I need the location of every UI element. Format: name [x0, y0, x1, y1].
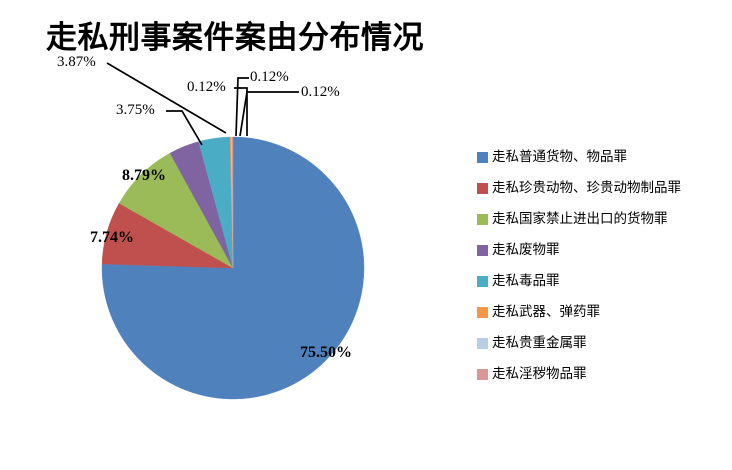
legend-item[interactable]: 走私武器、弹药罪 — [477, 297, 729, 328]
legend-item-label: 走私武器、弹药罪 — [492, 306, 600, 320]
callout-label-waste: 3.75% — [116, 103, 155, 118]
legend-color-swatch — [477, 307, 488, 318]
legend-color-swatch — [477, 152, 488, 163]
slice-label-rare-animals: 7.74% — [90, 230, 134, 246]
callout-label-precious-metals: 0.12% — [250, 70, 289, 85]
pie-chart-plot-area: 75.50% 7.74% 8.79% 3.87% 3.75% 0.12% 0.1… — [0, 0, 470, 470]
legend-item-label: 走私贵重金属罪 — [492, 337, 587, 351]
slice-label-ordinary-goods: 75.50% — [300, 345, 352, 361]
slice-label-prohibited-goods: 8.79% — [122, 168, 166, 184]
legend-item[interactable]: 走私贵重金属罪 — [477, 328, 729, 359]
legend-color-swatch — [477, 338, 488, 349]
leader-line-drugs — [107, 63, 226, 133]
legend-item[interactable]: 走私珍贵动物、珍贵动物制品罪 — [477, 173, 729, 204]
callout-label-obscene: 0.12% — [301, 85, 340, 100]
legend-item[interactable]: 走私毒品罪 — [477, 266, 729, 297]
legend-item-label: 走私普通货物、物品罪 — [492, 151, 627, 165]
legend-item-label: 走私国家禁止进出口的货物罪 — [492, 213, 668, 227]
legend-color-swatch — [477, 369, 488, 380]
legend-item-label: 走私淫秽物品罪 — [492, 368, 587, 382]
callout-label-drugs: 3.87% — [57, 55, 96, 70]
legend-item[interactable]: 走私普通货物、物品罪 — [477, 142, 729, 173]
legend-item-label: 走私毒品罪 — [492, 275, 560, 289]
chart-canvas: 走私刑事案件案由分布情况 75.50% 7.74% 8.79% 3.87% 3.… — [0, 0, 732, 470]
legend-item-label: 走私珍贵动物、珍贵动物制品罪 — [492, 182, 681, 196]
legend-item-label: 走私废物罪 — [492, 244, 560, 258]
legend-item[interactable]: 走私国家禁止进出口的货物罪 — [477, 204, 729, 235]
legend-color-swatch — [477, 183, 488, 194]
legend-item[interactable]: 走私淫秽物品罪 — [477, 359, 729, 390]
leader-line-obscene — [240, 92, 299, 136]
callout-label-weapons: 0.12% — [187, 80, 226, 95]
pie-chart-svg — [0, 0, 470, 470]
legend-color-swatch — [477, 276, 488, 287]
legend-color-swatch — [477, 214, 488, 225]
legend-color-swatch — [477, 245, 488, 256]
chart-legend: 走私普通货物、物品罪走私珍贵动物、珍贵动物制品罪走私国家禁止进出口的货物罪走私废… — [477, 142, 729, 390]
legend-item[interactable]: 走私废物罪 — [477, 235, 729, 266]
